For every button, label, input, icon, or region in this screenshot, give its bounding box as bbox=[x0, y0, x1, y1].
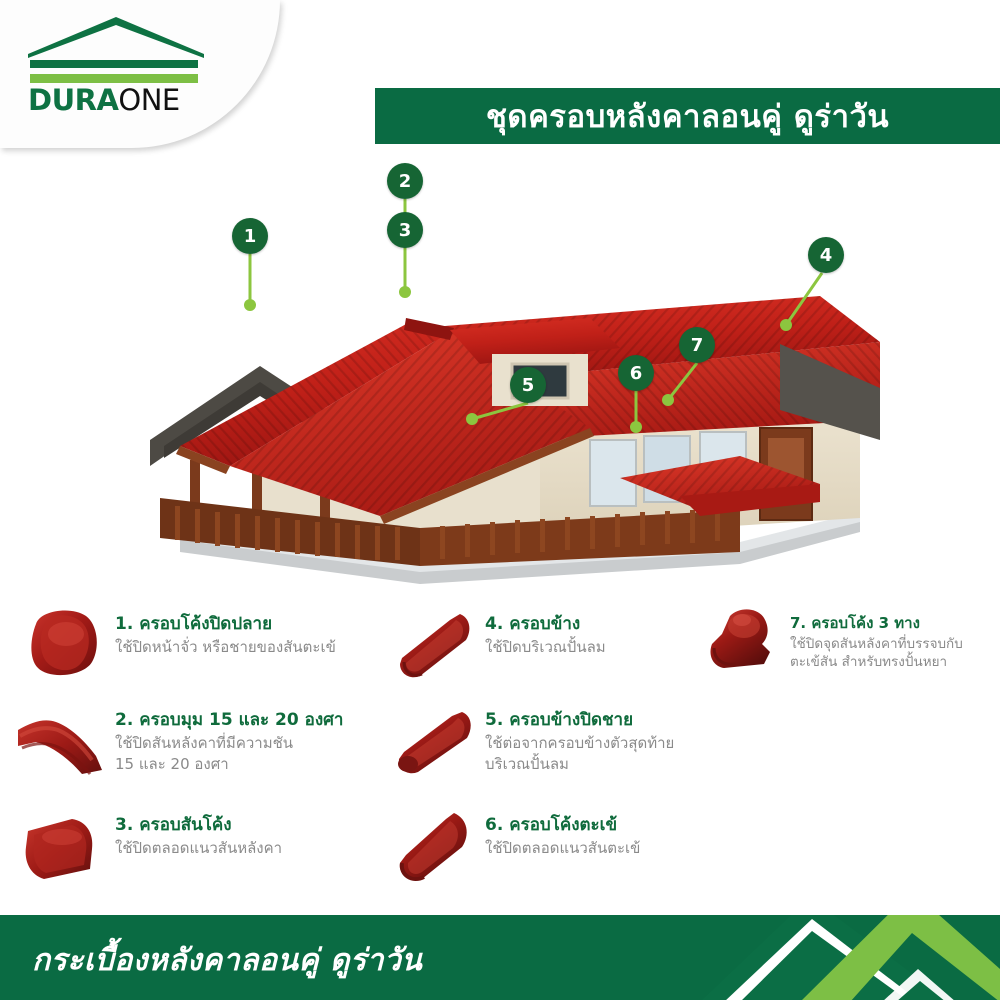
product-thumb-5 bbox=[380, 696, 485, 788]
logo-bar-light bbox=[30, 74, 198, 83]
product-title-5: 5. ครอบข้างปิดชาย bbox=[485, 710, 700, 731]
logo-text-dura: DURA bbox=[28, 83, 118, 117]
product-item-5: 5. ครอบข้างปิดชาย ใช้ต่อจากครอบข้างตัวสุ… bbox=[380, 696, 700, 801]
product-title-4: 4. ครอบข้าง bbox=[485, 614, 700, 635]
callout-marker-6[interactable]: 6 bbox=[618, 355, 654, 391]
product-text-6: 6. ครอบโค้งตะเข้ ใช้ปิดตลอดแนวสันตะเข้ bbox=[485, 801, 700, 859]
product-desc-3-line-1: ใช้ปิดตลอดแนวสันหลังคา bbox=[115, 838, 370, 858]
product-title-2: 2. ครอบมุม 15 และ 20 องศา bbox=[115, 710, 370, 731]
product-thumb-1 bbox=[10, 600, 115, 692]
product-thumb-3 bbox=[10, 801, 115, 893]
product-desc-5-line-1: ใช้ต่อจากครอบข้างตัวสุดท้าย bbox=[485, 733, 700, 753]
logo-bar-dark bbox=[30, 60, 198, 68]
product-item-7: 7. ครอบโค้ง 3 ทาง ใช้ปิดจุดสันหลังคาที่บ… bbox=[700, 600, 1000, 696]
three-way-curved-tile-icon bbox=[700, 600, 790, 680]
callout-marker-2[interactable]: 2 bbox=[387, 163, 423, 199]
product-title-7: 7. ครอบโค้ง 3 ทาง bbox=[790, 614, 1000, 633]
product-text-5: 5. ครอบข้างปิดชาย ใช้ต่อจากครอบข้างตัวสุ… bbox=[485, 696, 700, 774]
product-desc-7-line-1: ใช้ปิดจุดสันหลังคาที่บรรจบกับ bbox=[790, 635, 1000, 653]
callout-marker-5[interactable]: 5 bbox=[510, 367, 546, 403]
dura-one-logo: DURAONE bbox=[26, 14, 206, 114]
callout-marker-1[interactable]: 1 bbox=[232, 218, 268, 254]
hip-curved-tile-icon bbox=[380, 801, 485, 893]
product-list: 1. ครอบโค้งปิดปลาย ใช้ปิดหน้าจั่ว หรือชา… bbox=[0, 600, 1000, 890]
callout-number-5: 5 bbox=[522, 375, 535, 396]
product-item-6: 6. ครอบโค้งตะเข้ ใช้ปิดตลอดแนวสันตะเข้ bbox=[380, 801, 700, 891]
product-desc-2-line-1: ใช้ปิดสันหลังคาที่มีความชัน bbox=[115, 733, 370, 753]
footer-chevron-graphic bbox=[700, 915, 1000, 1000]
callout-number-7: 7 bbox=[691, 335, 704, 356]
angle-ridge-tile-icon bbox=[10, 696, 115, 788]
product-text-3: 3. ครอบสันโค้ง ใช้ปิดตลอดแนวสันหลังคา bbox=[115, 801, 370, 859]
callout-number-6: 6 bbox=[630, 363, 643, 384]
curved-ridge-tile-icon bbox=[10, 801, 115, 893]
end-cap-curved-ridge-tile-icon bbox=[10, 600, 115, 692]
product-thumb-7 bbox=[700, 600, 790, 680]
product-text-4: 4. ครอบข้าง ใช้ปิดบริเวณปั้นลม bbox=[485, 600, 700, 658]
brand-logo-panel: DURAONE bbox=[0, 0, 280, 148]
side-end-barge-tile-icon bbox=[380, 696, 485, 788]
infographic-page: DURAONE ชุดครอบหลังคาลอนคู่ ดูร่าวัน bbox=[0, 0, 1000, 1000]
product-desc-4-line-1: ใช้ปิดบริเวณปั้นลม bbox=[485, 637, 700, 657]
product-item-1: 1. ครอบโค้งปิดปลาย ใช้ปิดหน้าจั่ว หรือชา… bbox=[10, 600, 370, 696]
roof-chevron-logo-icon bbox=[26, 14, 206, 58]
logo-text-one: ONE bbox=[118, 83, 179, 117]
product-desc-5: ใช้ต่อจากครอบข้างตัวสุดท้าย บริเวณปั้นลม bbox=[485, 733, 700, 774]
product-desc-3: ใช้ปิดตลอดแนวสันหลังคา bbox=[115, 838, 370, 858]
callout-marker-3[interactable]: 3 bbox=[387, 212, 423, 248]
product-desc-2: ใช้ปิดสันหลังคาที่มีความชัน 15 และ 20 อง… bbox=[115, 733, 370, 774]
product-title-3: 3. ครอบสันโค้ง bbox=[115, 815, 370, 836]
callout-number-1: 1 bbox=[244, 226, 257, 247]
product-text-7: 7. ครอบโค้ง 3 ทาง ใช้ปิดจุดสันหลังคาที่บ… bbox=[790, 600, 1000, 671]
product-title-6: 6. ครอบโค้งตะเข้ bbox=[485, 815, 700, 836]
product-text-1: 1. ครอบโค้งปิดปลาย ใช้ปิดหน้าจั่ว หรือชา… bbox=[115, 600, 370, 658]
product-thumb-2 bbox=[10, 696, 115, 788]
product-column-2: 4. ครอบข้าง ใช้ปิดบริเวณปั้นลม bbox=[380, 600, 700, 891]
footer-title: กระเบื้องหลังคาลอนคู่ ดูร่าวัน bbox=[32, 937, 422, 984]
page-title: ชุดครอบหลังคาลอนคู่ ดูร่าวัน bbox=[486, 91, 889, 141]
product-column-3: 7. ครอบโค้ง 3 ทาง ใช้ปิดจุดสันหลังคาที่บ… bbox=[700, 600, 1000, 696]
side-barge-tile-icon bbox=[380, 600, 485, 692]
footer-banner: กระเบื้องหลังคาลอนคู่ ดูร่าวัน bbox=[0, 915, 1000, 1000]
product-item-3: 3. ครอบสันโค้ง ใช้ปิดตลอดแนวสันหลังคา bbox=[10, 801, 370, 891]
callout-number-3: 3 bbox=[399, 220, 412, 241]
header-banner: ชุดครอบหลังคาลอนคู่ ดูร่าวัน bbox=[375, 88, 1000, 144]
product-item-4: 4. ครอบข้าง ใช้ปิดบริเวณปั้นลม bbox=[380, 600, 700, 696]
callout-number-4: 4 bbox=[820, 245, 833, 266]
product-column-1: 1. ครอบโค้งปิดปลาย ใช้ปิดหน้าจั่ว หรือชา… bbox=[10, 600, 370, 891]
product-desc-7: ใช้ปิดจุดสันหลังคาที่บรรจบกับ ตะเข้สัน ส… bbox=[790, 635, 1000, 671]
product-title-1: 1. ครอบโค้งปิดปลาย bbox=[115, 614, 370, 635]
product-desc-1: ใช้ปิดหน้าจั่ว หรือชายของสันตะเข้ bbox=[115, 637, 370, 657]
product-desc-2-line-2: 15 และ 20 องศา bbox=[115, 754, 370, 774]
house-illustration bbox=[120, 270, 880, 590]
logo-wordmark: DURAONE bbox=[28, 86, 208, 115]
product-text-2: 2. ครอบมุม 15 และ 20 องศา ใช้ปิดสันหลังค… bbox=[115, 696, 370, 774]
product-desc-6-line-1: ใช้ปิดตลอดแนวสันตะเข้ bbox=[485, 838, 700, 858]
product-desc-7-line-2: ตะเข้สัน สำหรับทรงปั้นหยา bbox=[790, 653, 1000, 671]
callout-marker-4[interactable]: 4 bbox=[808, 237, 844, 273]
callout-number-2: 2 bbox=[399, 171, 412, 192]
product-desc-5-line-2: บริเวณปั้นลม bbox=[485, 754, 700, 774]
callout-marker-7[interactable]: 7 bbox=[679, 327, 715, 363]
house-roof-graphic bbox=[120, 270, 880, 590]
product-desc-6: ใช้ปิดตลอดแนวสันตะเข้ bbox=[485, 838, 700, 858]
product-desc-1-line-1: ใช้ปิดหน้าจั่ว หรือชายของสันตะเข้ bbox=[115, 637, 370, 657]
product-item-2: 2. ครอบมุม 15 และ 20 องศา ใช้ปิดสันหลังค… bbox=[10, 696, 370, 801]
product-thumb-6 bbox=[380, 801, 485, 893]
product-thumb-4 bbox=[380, 600, 485, 692]
product-desc-4: ใช้ปิดบริเวณปั้นลม bbox=[485, 637, 700, 657]
